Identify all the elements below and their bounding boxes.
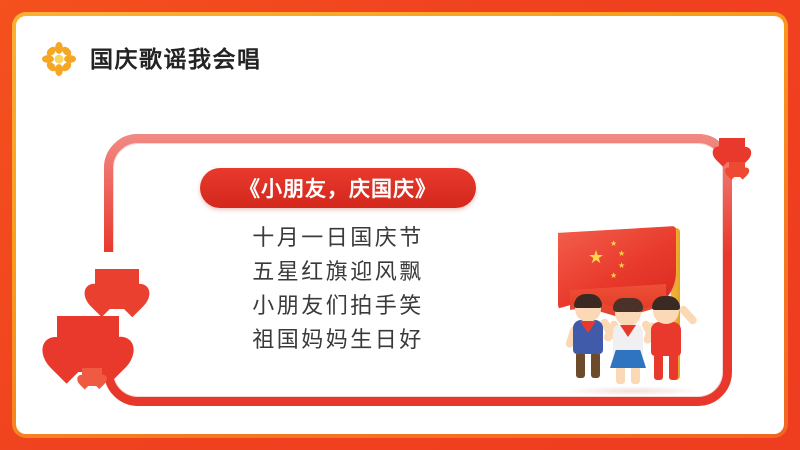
- poem-line: 五星红旗迎风飘: [202, 255, 474, 289]
- child-figure-right: [646, 298, 690, 392]
- flag-star-small: ★: [610, 240, 617, 248]
- flag-star-small: ★: [610, 272, 617, 280]
- poem-title-pill: 《小朋友，庆国庆》: [200, 168, 476, 208]
- ground-shadow: [562, 386, 704, 396]
- heart-icon: [95, 269, 139, 309]
- poem-title: 《小朋友，庆国庆》: [239, 173, 437, 203]
- flower-icon: [42, 42, 76, 76]
- heart-icon: [719, 138, 745, 162]
- page-title: 国庆歌谣我会唱: [90, 48, 262, 71]
- legs: [653, 354, 679, 380]
- slide-content-area: 国庆歌谣我会唱 《小朋友，庆国庆》 十月一日国庆节 五星红旗迎风飘 小朋友们拍手…: [16, 16, 784, 434]
- hair: [652, 296, 680, 310]
- child-figure-left: [568, 296, 612, 392]
- poem-line: 小朋友们拍手笑: [202, 289, 474, 323]
- poem-line: 十月一日国庆节: [202, 221, 474, 255]
- poem-body: 十月一日国庆节 五星红旗迎风飘 小朋友们拍手笑 祖国妈妈生日好: [202, 221, 474, 357]
- poem-line: 祖国妈妈生日好: [202, 323, 474, 357]
- hair: [574, 294, 602, 308]
- heart-icon: [57, 316, 119, 372]
- legs: [575, 352, 601, 378]
- torso: [651, 322, 681, 356]
- skirt: [610, 350, 646, 368]
- hair: [613, 298, 643, 312]
- arm: [678, 304, 699, 326]
- flag-star-small: ★: [618, 250, 625, 258]
- flag-star-large: ★: [588, 248, 604, 266]
- flag-and-children-illustration: ★ ★ ★ ★ ★: [544, 222, 720, 392]
- slide-header: 国庆歌谣我会唱: [16, 16, 784, 102]
- flag-star-small: ★: [618, 262, 625, 270]
- heart-icon: [729, 162, 745, 177]
- slide-canvas: 国庆歌谣我会唱 《小朋友，庆国庆》 十月一日国庆节 五星红旗迎风飘 小朋友们拍手…: [0, 0, 800, 450]
- heart-icon: [82, 368, 102, 386]
